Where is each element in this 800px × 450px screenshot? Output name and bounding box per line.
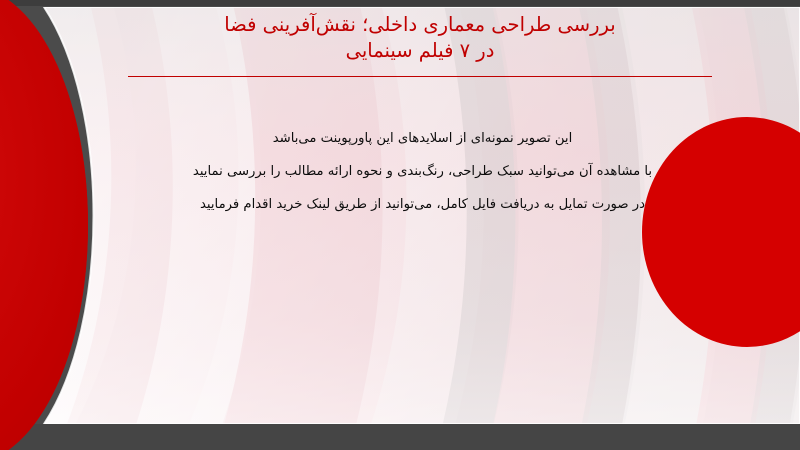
body-line-2: با مشاهده آن می‌توانید سبک طراحی، رنگ‌بن…: [150, 155, 695, 188]
presentation-slide: بررسی طراحی معماری داخلی؛ نقش‌آفرینی فضا…: [0, 0, 800, 450]
title-underline-rule: [128, 76, 712, 77]
title-line-2: در ۷ فیلم سینمایی: [120, 38, 720, 64]
slide-title: بررسی طراحی معماری داخلی؛ نقش‌آفرینی فضا…: [120, 12, 720, 64]
body-line-1: این تصویر نمونه‌ای از اسلایدهای این پاور…: [150, 122, 695, 155]
body-line-3: در صورت تمایل به دریافت فایل کامل، می‌تو…: [150, 188, 695, 221]
title-line-1: بررسی طراحی معماری داخلی؛ نقش‌آفرینی فضا: [120, 12, 720, 38]
slide-body: این تصویر نمونه‌ای از اسلایدهای این پاور…: [150, 122, 695, 221]
slide-bottom-strip: [0, 424, 800, 450]
